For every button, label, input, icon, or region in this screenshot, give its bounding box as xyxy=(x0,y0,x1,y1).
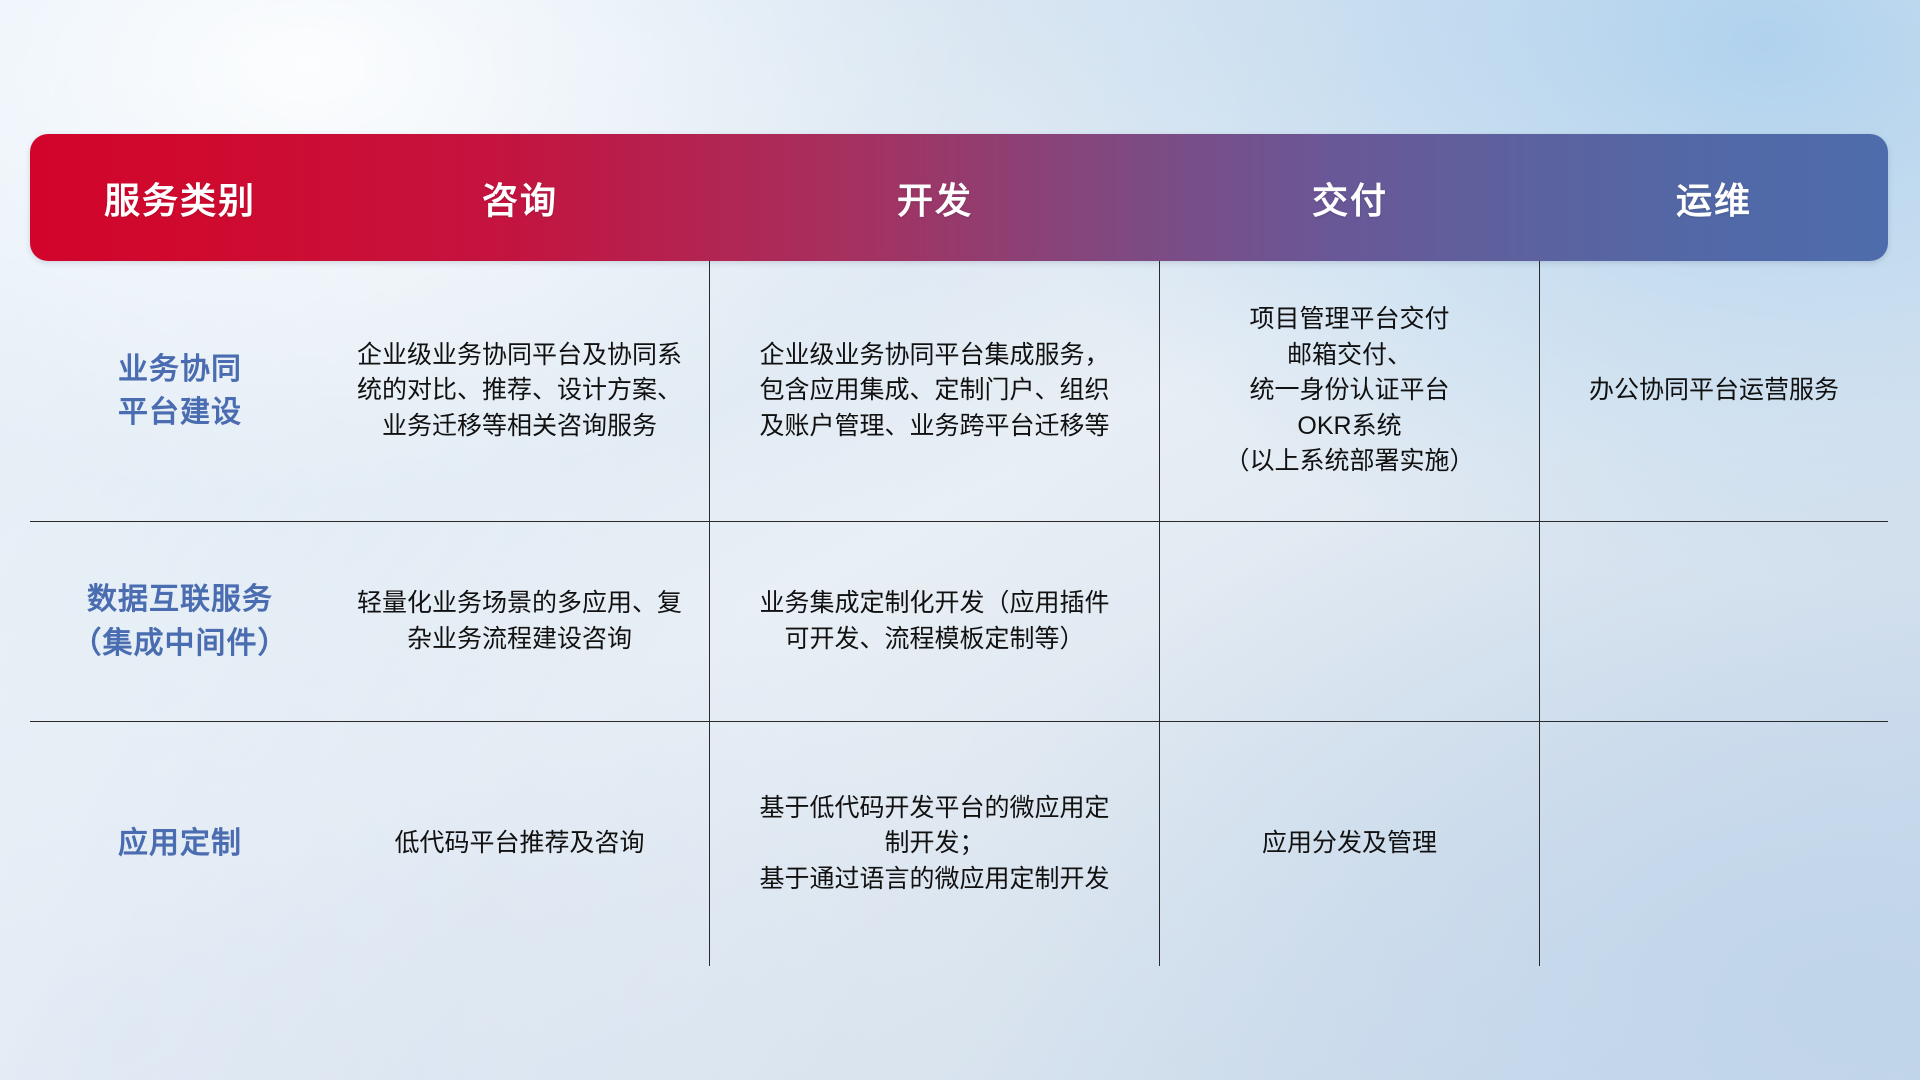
service-category-table: 服务类别 咨询 开发 交付 运维 业务协同 平台建设 企业级业务协同平台及协同系… xyxy=(30,134,1888,966)
header-cell-service-category: 服务类别 xyxy=(30,134,330,261)
header-label-service-category: 服务类别 xyxy=(104,172,256,224)
row-cell-consulting: 企业级业务协同平台及协同系 统的对比、推荐、设计方案、 业务迁移等相关咨询服务 xyxy=(330,261,710,521)
row-cell-development: 业务集成定制化开发（应用插件 可开发、流程模板定制等） xyxy=(710,521,1160,721)
header-cell-delivery: 交付 xyxy=(1160,134,1540,261)
header-label-operations: 运维 xyxy=(1676,172,1752,224)
table-row: 业务协同 平台建设 企业级业务协同平台及协同系 统的对比、推荐、设计方案、 业务… xyxy=(30,261,1888,521)
row-cell-operations xyxy=(1540,521,1888,721)
header-label-delivery: 交付 xyxy=(1312,172,1388,224)
header-cell-development: 开发 xyxy=(710,134,1160,261)
header-label-consulting: 咨询 xyxy=(482,172,558,224)
slide-canvas: 服务类别 咨询 开发 交付 运维 业务协同 平台建设 企业级业务协同平台及协同系… xyxy=(0,0,1920,1080)
table-row: 应用定制 低代码平台推荐及咨询 基于低代码开发平台的微应用定 制开发； 基于通过… xyxy=(30,721,1888,966)
row-cell-operations: 办公协同平台运营服务 xyxy=(1540,261,1888,521)
header-cell-consulting: 咨询 xyxy=(330,134,710,261)
table-header-row: 服务类别 咨询 开发 交付 运维 xyxy=(30,134,1888,261)
table-body: 业务协同 平台建设 企业级业务协同平台及协同系 统的对比、推荐、设计方案、 业务… xyxy=(30,261,1888,966)
row-category-label: 数据互联服务 （集成中间件） xyxy=(30,521,330,721)
row-cell-development: 基于低代码开发平台的微应用定 制开发； 基于通过语言的微应用定制开发 xyxy=(710,721,1160,966)
row-category-label: 业务协同 平台建设 xyxy=(30,261,330,521)
row-cell-delivery: 项目管理平台交付 邮箱交付、 统一身份认证平台 OKR系统 （以上系统部署实施） xyxy=(1160,261,1540,521)
row-cell-delivery: 应用分发及管理 xyxy=(1160,721,1540,966)
table-row: 数据互联服务 （集成中间件） 轻量化业务场景的多应用、复 杂业务流程建设咨询 业… xyxy=(30,521,1888,721)
header-cell-operations: 运维 xyxy=(1540,134,1888,261)
row-category-label: 应用定制 xyxy=(30,721,330,966)
row-cell-delivery xyxy=(1160,521,1540,721)
row-cell-consulting: 轻量化业务场景的多应用、复 杂业务流程建设咨询 xyxy=(330,521,710,721)
row-cell-consulting: 低代码平台推荐及咨询 xyxy=(330,721,710,966)
row-cell-development: 企业级业务协同平台集成服务， 包含应用集成、定制门户、组织 及账户管理、业务跨平… xyxy=(710,261,1160,521)
row-cell-operations xyxy=(1540,721,1888,966)
header-label-development: 开发 xyxy=(897,172,973,224)
